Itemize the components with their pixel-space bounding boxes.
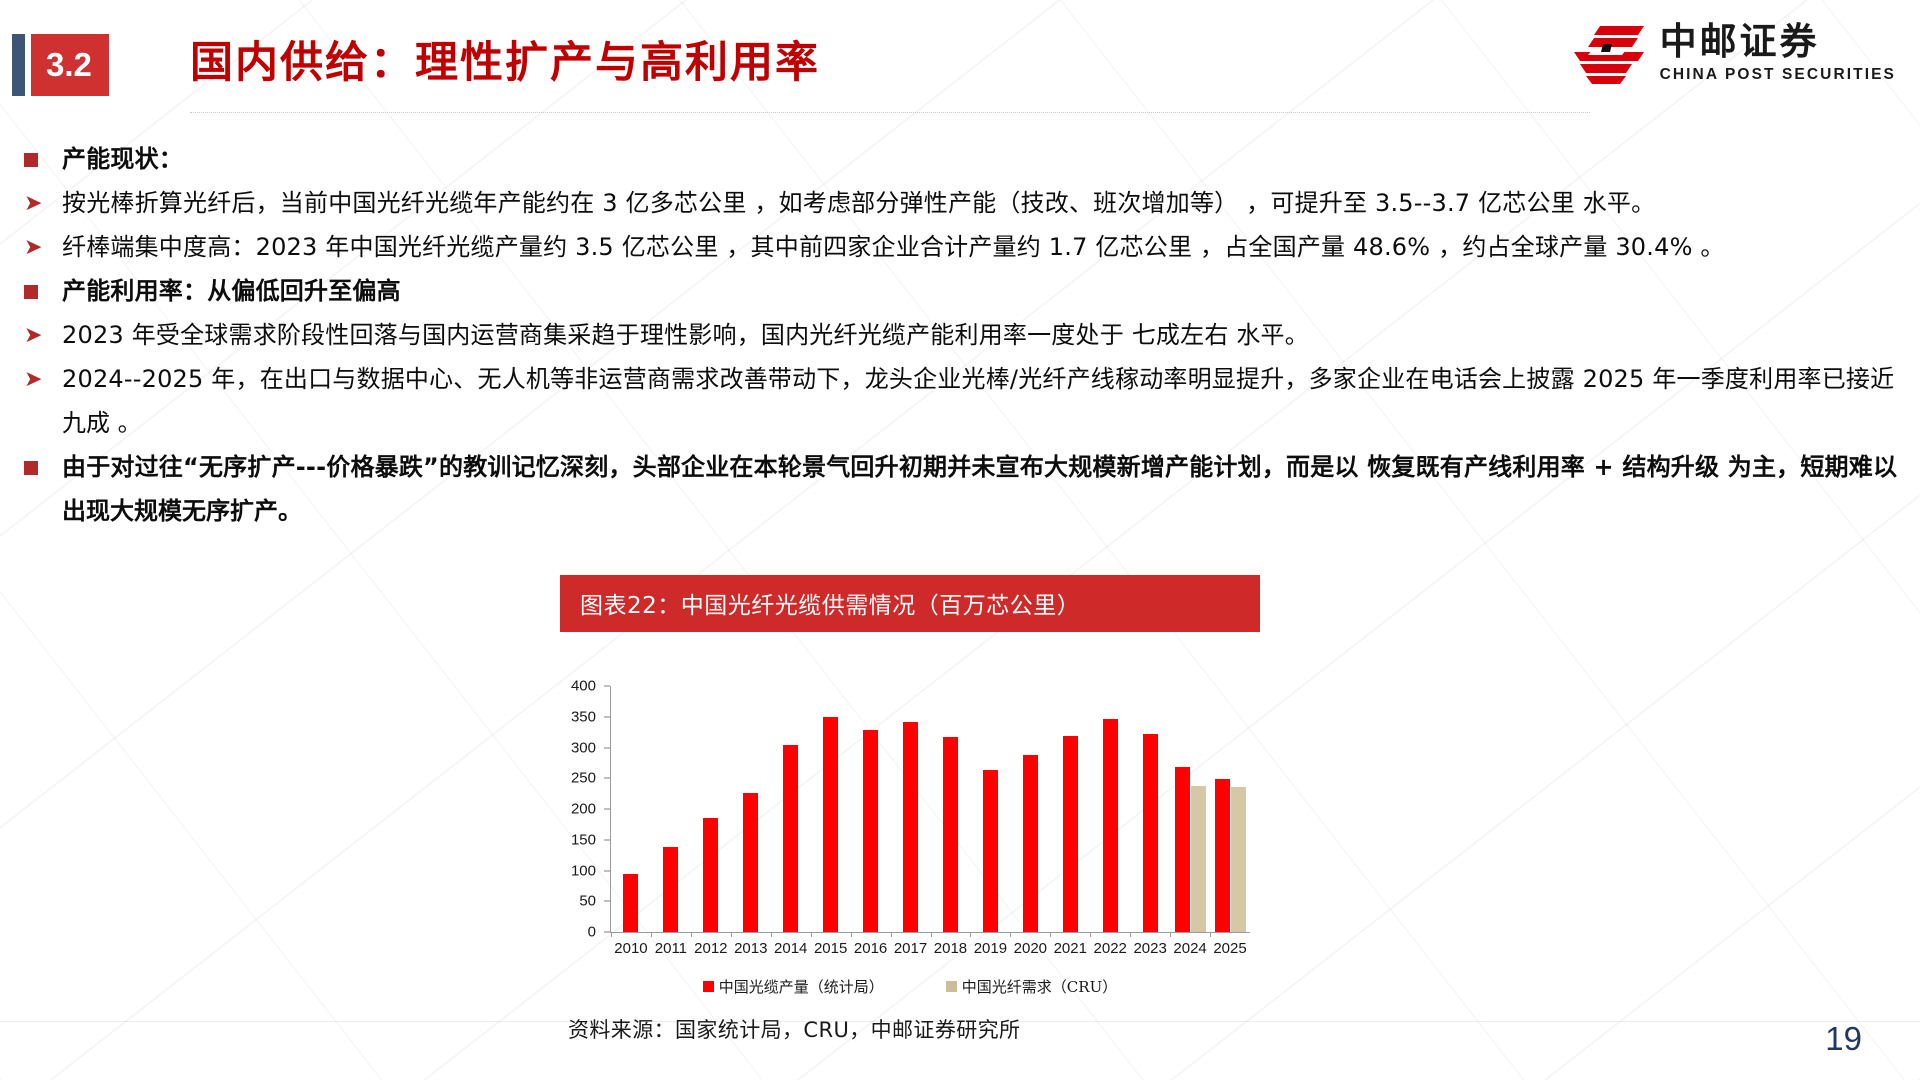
chart-bar xyxy=(623,874,638,932)
y-tick-label: 350 xyxy=(571,709,596,724)
x-tick-mark xyxy=(771,932,772,937)
legend-label: 中国光纤需求（CRU） xyxy=(962,976,1117,997)
bullet-text: 由于对过往“无序扩产---价格暴跌”的教训记忆深刻，头部企业在本轮景气回升初期并… xyxy=(62,450,1897,485)
chart-bar xyxy=(1175,767,1190,932)
chart-bar xyxy=(903,722,918,932)
chart-bar-group xyxy=(691,686,731,932)
y-tick-label: 250 xyxy=(571,771,596,786)
bullet-list: 产能现状：➤按光棒折算光纤后，当前中国光纤光缆年产能约在 3 亿多芯公里 ，如考… xyxy=(0,142,1920,538)
chart-caption: 图表22：中国光纤光缆供需情况（百万芯公里） xyxy=(560,575,1260,632)
y-tick-label: 400 xyxy=(571,679,596,694)
y-tick-label: 150 xyxy=(571,832,596,847)
square-bullet-icon xyxy=(24,461,38,475)
chart-bar xyxy=(1103,719,1118,932)
x-tick-mark xyxy=(651,932,652,937)
arrow-bullet-slot: ➤ xyxy=(18,362,62,391)
x-tick-label: 2019 xyxy=(974,940,1007,957)
x-tick-mark xyxy=(1090,932,1091,937)
bullet-continuation: 出现大规模无序扩产。 xyxy=(18,494,1920,529)
x-tick-label: 2013 xyxy=(734,940,767,957)
x-tick-mark xyxy=(1050,932,1051,937)
x-tick-mark xyxy=(931,932,932,937)
square-bullet-icon xyxy=(24,153,38,167)
chart-x-axis-labels: 2010201120122013201420152016201720182019… xyxy=(611,940,1250,964)
x-tick-label: 2022 xyxy=(1094,940,1127,957)
logo-name-en: CHINA POST SECURITIES xyxy=(1660,67,1896,83)
chart-bar xyxy=(1023,755,1038,932)
bullet-row: ➤2023 年受全球需求阶段性回落与国内运营商集采趋于理性影响，国内光纤光缆产能… xyxy=(18,318,1920,353)
section-badge: 3.2 xyxy=(12,34,109,96)
chart-bar-group xyxy=(811,686,851,932)
bullet-text: 纤棒端集中度高：2023 年中国光纤光缆产量约 3.5 亿芯公里 ，其中前四家企… xyxy=(62,230,1725,265)
chart-bar-group xyxy=(1050,686,1090,932)
x-tick-mark xyxy=(1210,932,1211,937)
x-tick-mark xyxy=(611,932,612,937)
x-tick-label: 2015 xyxy=(814,940,847,957)
chart-bar-group xyxy=(1130,686,1170,932)
x-tick-label: 2018 xyxy=(934,940,967,957)
china-post-emblem-icon xyxy=(1570,22,1648,84)
x-tick-mark xyxy=(811,932,812,937)
y-tick-label: 50 xyxy=(579,894,596,909)
chart-bars-area xyxy=(611,686,1250,932)
chart-bar-group xyxy=(1210,686,1250,932)
bullet-heading-row: 产能利用率：从偏低回升至偏高 xyxy=(18,274,1920,309)
square-bullet-slot xyxy=(18,450,62,480)
legend-item: 中国光纤需求（CRU） xyxy=(946,976,1117,997)
bullet-row: ➤纤棒端集中度高：2023 年中国光纤光缆产量约 3.5 亿芯公里 ，其中前四家… xyxy=(18,230,1920,265)
chart-bar-group xyxy=(891,686,931,932)
x-tick-label: 2010 xyxy=(614,940,647,957)
x-tick-mark xyxy=(1010,932,1011,937)
header-divider xyxy=(190,112,1590,113)
square-bullet-slot xyxy=(18,274,62,304)
bullet-heading-row: 由于对过往“无序扩产---价格暴跌”的教训记忆深刻，头部企业在本轮景气回升初期并… xyxy=(18,450,1920,485)
company-logo: 中邮证券 CHINA POST SECURITIES xyxy=(1570,22,1896,84)
x-tick-label: 2017 xyxy=(894,940,927,957)
bullet-text: 按光棒折算光纤后，当前中国光纤光缆年产能约在 3 亿多芯公里 ，如考虑部分弹性产… xyxy=(62,186,1655,221)
legend-label: 中国光缆产量（统计局） xyxy=(719,976,884,997)
bullet-heading-row: 产能现状： xyxy=(18,142,1920,177)
chart-bar xyxy=(823,717,838,932)
arrow-bullet-slot: ➤ xyxy=(18,186,62,215)
bullet-row: ➤按光棒折算光纤后，当前中国光纤光缆年产能约在 3 亿多芯公里 ，如考虑部分弹性… xyxy=(18,186,1920,221)
x-tick-mark xyxy=(1130,932,1131,937)
y-tick-label: 200 xyxy=(571,802,596,817)
section-badge-bar xyxy=(12,34,25,96)
x-tick-mark xyxy=(891,932,892,937)
chart-bar-group xyxy=(851,686,891,932)
arrow-bullet-icon: ➤ xyxy=(24,237,42,259)
chart-bar xyxy=(783,745,798,932)
chart-bar xyxy=(943,737,958,932)
legend-swatch-icon xyxy=(703,981,714,992)
page-number: 19 xyxy=(1825,1020,1862,1058)
x-tick-label: 2021 xyxy=(1054,940,1087,957)
slide-header: 3.2 国内供给：理性扩产与高利用率 xyxy=(0,0,1920,120)
legend-item: 中国光缆产量（统计局） xyxy=(703,976,884,997)
arrow-bullet-icon: ➤ xyxy=(24,369,42,391)
chart-bar xyxy=(743,793,758,932)
x-tick-label: 2025 xyxy=(1213,940,1246,957)
x-tick-label: 2011 xyxy=(655,940,687,957)
x-tick-mark xyxy=(731,932,732,937)
x-tick-mark xyxy=(970,932,971,937)
chart-bar-group xyxy=(731,686,771,932)
chart-bar xyxy=(1215,779,1230,932)
x-tick-label: 2016 xyxy=(854,940,887,957)
bullet-row: ➤2024--2025 年，在出口与数据中心、无人机等非运营商需求改善带动下，龙… xyxy=(18,362,1920,397)
chart-bar xyxy=(1231,787,1246,932)
chart-bar xyxy=(863,730,878,932)
x-tick-mark xyxy=(1170,932,1171,937)
arrow-bullet-icon: ➤ xyxy=(24,193,42,215)
x-tick-mark xyxy=(851,932,852,937)
chart-bar-group xyxy=(611,686,651,932)
slide-canvas: 3.2 国内供给：理性扩产与高利用率 xyxy=(0,0,1920,1080)
x-tick-label: 2020 xyxy=(1014,940,1047,957)
bullet-text: 2023 年受全球需求阶段性回落与国内运营商集采趋于理性影响，国内光纤光缆产能利… xyxy=(62,318,1309,353)
chart-figure: 图表22：中国光纤光缆供需情况（百万芯公里） 05010015020025030… xyxy=(560,575,1260,986)
logo-name-cn: 中邮证券 xyxy=(1660,23,1896,60)
chart-bar-group xyxy=(771,686,811,932)
chart-bar xyxy=(663,847,678,932)
chart-bar xyxy=(1143,734,1158,932)
chart-bar-group xyxy=(1170,686,1210,932)
y-tick-label: 100 xyxy=(571,863,596,878)
chart-legend: 中国光缆产量（统计局）中国光纤需求（CRU） xyxy=(560,976,1260,997)
x-tick-mark xyxy=(691,932,692,937)
chart-bar xyxy=(1063,736,1078,932)
y-tick-label: 300 xyxy=(571,740,596,755)
chart-bar xyxy=(983,770,998,932)
x-tick-label: 2023 xyxy=(1133,940,1166,957)
x-tick-label: 2024 xyxy=(1173,940,1206,957)
arrow-bullet-slot: ➤ xyxy=(18,230,62,259)
x-tick-label: 2012 xyxy=(694,940,727,957)
section-number: 3.2 xyxy=(31,34,109,96)
chart-bar xyxy=(1191,786,1206,932)
logo-text: 中邮证券 CHINA POST SECURITIES xyxy=(1660,23,1896,83)
chart-bar-group xyxy=(651,686,691,932)
chart-bar-group xyxy=(970,686,1010,932)
bullet-text: 2024--2025 年，在出口与数据中心、无人机等非运营商需求改善带动下，龙头… xyxy=(62,362,1894,397)
page-title: 国内供给：理性扩产与高利用率 xyxy=(190,28,820,90)
source-note: 资料来源：国家统计局，CRU，中邮证券研究所 xyxy=(568,1014,1020,1044)
chart-bar-group xyxy=(931,686,971,932)
chart-bar xyxy=(703,818,718,932)
bullet-continuation: 九成 。 xyxy=(18,406,1920,441)
x-tick-label: 2014 xyxy=(774,940,807,957)
y-tick-label: 0 xyxy=(588,925,596,940)
arrow-bullet-slot: ➤ xyxy=(18,318,62,347)
chart-plot: 050100150200250300350400 201020112012201… xyxy=(560,686,1260,986)
bullet-text: 产能现状： xyxy=(62,142,183,177)
chart-bar-group xyxy=(1090,686,1130,932)
bullet-text: 产能利用率：从偏低回升至偏高 xyxy=(62,274,401,309)
square-bullet-slot xyxy=(18,142,62,172)
chart-y-axis: 050100150200250300350400 xyxy=(560,686,604,932)
legend-swatch-icon xyxy=(946,981,957,992)
arrow-bullet-icon: ➤ xyxy=(24,325,42,347)
chart-bar-group xyxy=(1010,686,1050,932)
square-bullet-icon xyxy=(24,285,38,299)
